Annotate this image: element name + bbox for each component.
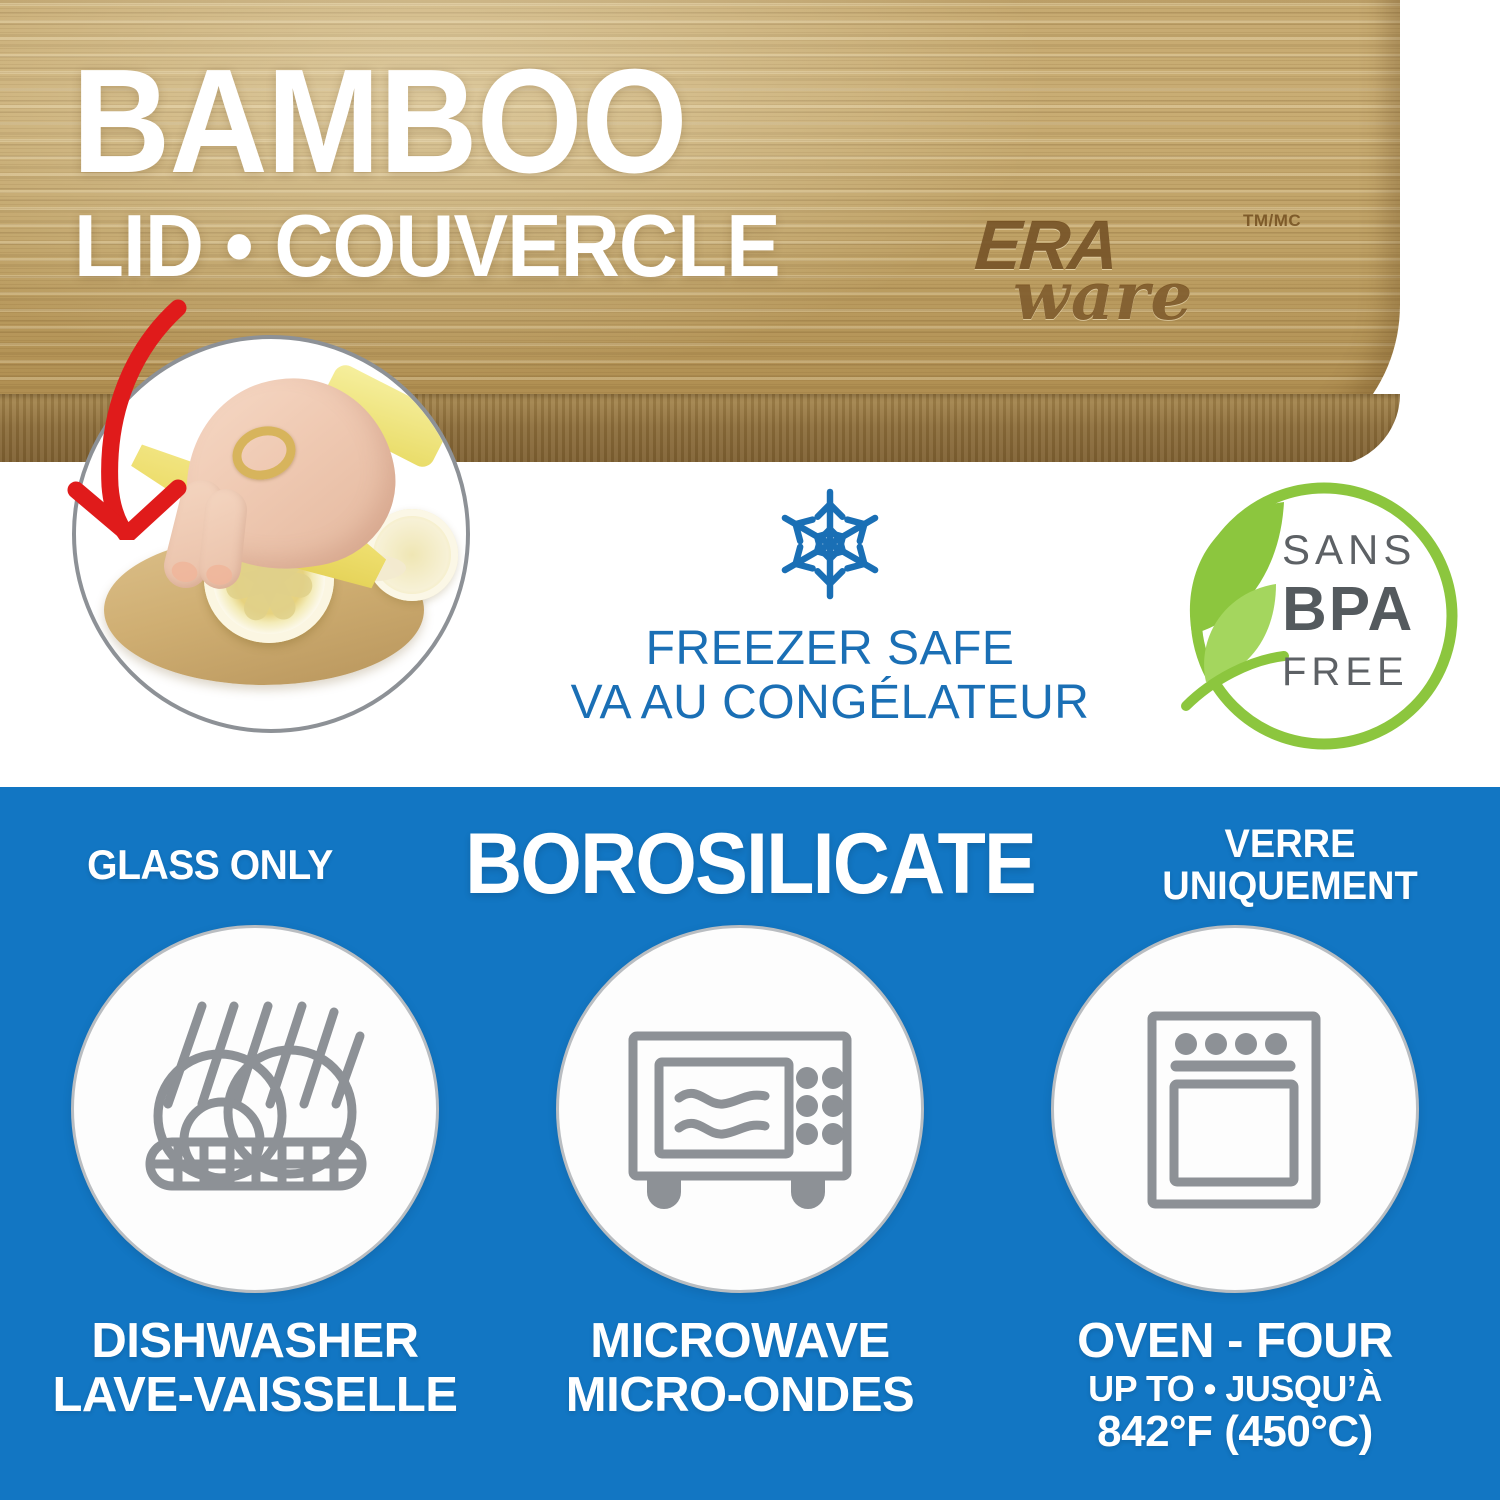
feature-dishwasher: DISHWASHER LAVE-VAISSELLE (35, 925, 475, 1423)
oven-icon (1100, 974, 1370, 1244)
bpa-label-free: FREE (1282, 650, 1409, 695)
dishwasher-label: DISHWASHER LAVE-VAISSELLE (35, 1315, 475, 1423)
oven-label-en: OVEN - FOUR (1015, 1315, 1455, 1369)
microwave-label-fr: MICRO-ONDES (520, 1369, 960, 1423)
feature-microwave: MICROWAVE MICRO-ONDES (520, 925, 960, 1423)
dishwasher-icon (120, 974, 390, 1244)
microwave-icon-circle (556, 925, 924, 1293)
microwave-label: MICROWAVE MICRO-ONDES (520, 1315, 960, 1423)
curved-red-arrow-icon (62, 290, 272, 540)
oven-icon-circle (1051, 925, 1419, 1293)
dishwasher-label-en: DISHWASHER (35, 1315, 475, 1369)
bpa-label-bpa: BPA (1282, 574, 1414, 645)
dishwasher-label-fr: LAVE-VAISSELLE (35, 1369, 475, 1423)
dishwasher-icon-circle (71, 925, 439, 1293)
header-glass-only: GLASS ONLY (52, 843, 368, 888)
brand-logo-trademark: TM/MC (1243, 211, 1301, 231)
brand-logo: ERA TM/MC ware (975, 205, 1305, 335)
freezer-safe-label-fr: VA AU CONGÉLATEUR (520, 676, 1140, 730)
microwave-label-en: MICROWAVE (520, 1315, 960, 1369)
bpa-free-badge: SANS BPA FREE (1172, 474, 1472, 764)
page-title: BAMBOO (72, 48, 687, 196)
snowflake-icon (768, 482, 892, 606)
oven-label-temp: 842°F (450°C) (1015, 1408, 1455, 1456)
header-verre-line2: UNIQUEMENT (1129, 865, 1452, 907)
header-verre-line1: VERRE (1129, 823, 1452, 865)
freezer-safe-feature: FREEZER SAFE VA AU CONGÉLATEUR (520, 482, 1140, 730)
freezer-safe-label-en: FREEZER SAFE (520, 622, 1140, 676)
header-borosilicate: BOROSILICATE (428, 815, 1072, 914)
microwave-icon (605, 974, 875, 1244)
oven-label: OVEN - FOUR UP TO • JUSQU’À 842°F (450°C… (1015, 1315, 1455, 1457)
header-verre-uniquement: VERRE UNIQUEMENT (1129, 823, 1452, 908)
page-subtitle: LID • COUVERCLE (74, 202, 780, 290)
bpa-label-sans: SANS (1282, 526, 1416, 574)
product-infographic: BAMBOO LID • COUVERCLE ERA TM/MC ware (0, 0, 1500, 1500)
feature-oven: OVEN - FOUR UP TO • JUSQU’À 842°F (450°C… (1015, 925, 1455, 1457)
borosilicate-blue-section: GLASS ONLY BOROSILICATE VERRE UNIQUEMENT (0, 787, 1500, 1500)
brand-logo-ware: ware (1013, 257, 1193, 335)
blue-header: GLASS ONLY BOROSILICATE VERRE UNIQUEMENT (0, 815, 1500, 920)
oven-label-note: UP TO • JUSQU’À (1015, 1369, 1455, 1409)
